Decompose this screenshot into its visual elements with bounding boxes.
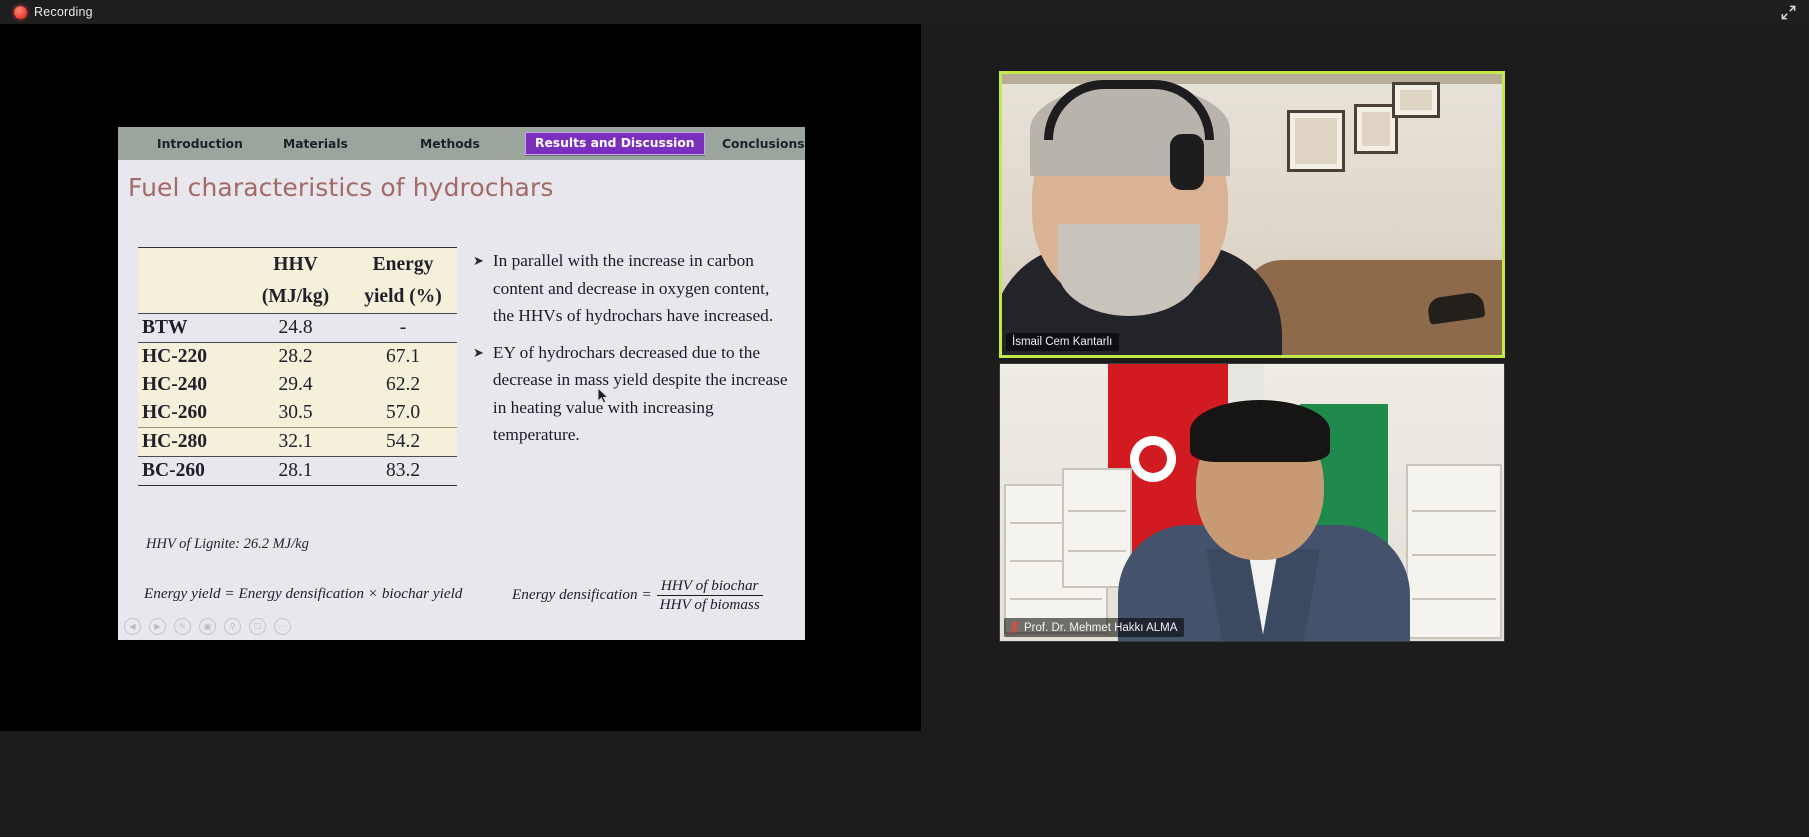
top-bar: Recording (0, 0, 1809, 24)
table-row: HC-220 28.2 67.1 (138, 343, 457, 372)
energy-densification-formula: Energy densification = HHV of biochar HH… (512, 577, 763, 614)
formula-denominator: HHV of biomass (657, 595, 763, 614)
arrow-bullet-icon: ➤ (473, 247, 484, 330)
fuel-characteristics-table: HHV Energy (MJ/kg) yield (%) BTW 24.8 (138, 247, 457, 486)
video-tile-participant[interactable]: Prof. Dr. Mehmet Hakkı ALMA (999, 363, 1505, 642)
presentation-slide[interactable]: Introduction Materials Methods Results a… (118, 127, 805, 640)
table-cell-ey: 62.2 (349, 371, 457, 399)
participant-name-tag: Prof. Dr. Mehmet Hakkı ALMA (1004, 618, 1184, 637)
table-cell-name: BC-260 (138, 457, 242, 486)
headset-earcup-icon (1170, 134, 1204, 190)
table-row: HC-240 29.4 62.2 (138, 371, 457, 399)
slide-tab-introduction[interactable]: Introduction (157, 137, 243, 151)
table-cell-hhv: 29.4 (242, 371, 349, 399)
table-header-row: HHV Energy (138, 248, 457, 281)
record-dot-icon (14, 6, 27, 19)
formula-fraction: HHV of biochar HHV of biomass (657, 577, 763, 614)
bullet-text: In parallel with the increase in carbon … (493, 247, 788, 330)
slide-tab-conclusions[interactable]: Conclusions (722, 137, 805, 151)
table-header-energy-yield: Energy (349, 248, 457, 281)
slide-toolbar[interactable]: ◀ ▶ ✎ ▣ ⚲ ☐ ⋯ (124, 618, 291, 635)
slide-tab-materials[interactable]: Materials (283, 137, 348, 151)
more-options-icon[interactable]: ⋯ (274, 618, 291, 635)
table-cell-name: HC-220 (138, 343, 242, 372)
recording-label: Recording (34, 5, 93, 19)
table-row: BTW 24.8 - (138, 314, 457, 343)
table-cell-name: HC-260 (138, 399, 242, 428)
table-header-blank (138, 248, 242, 281)
list-item: ➤ EY of hydrochars decreased due to the … (473, 339, 788, 449)
bullet-text: EY of hydrochars decreased due to the de… (493, 339, 788, 449)
table-header-ey-units: yield (%) (349, 281, 457, 314)
table-cell-ey: 83.2 (349, 457, 457, 486)
video-tile-active-speaker[interactable]: İsmail Cem Kantarlı (999, 71, 1505, 358)
slide-title: Fuel characteristics of hydrochars (128, 173, 553, 202)
table-cell-name: HC-280 (138, 428, 242, 457)
table-header-ey-line1: Energy (349, 251, 457, 278)
picture-frame (1392, 82, 1440, 118)
table-cell-name: HC-240 (138, 371, 242, 399)
table-cell-ey: 54.2 (349, 428, 457, 457)
energy-yield-formula: Energy yield = Energy densification × bi… (144, 585, 462, 603)
participant-hair (1190, 400, 1330, 462)
next-slide-icon[interactable]: ▶ (149, 618, 166, 635)
table-row: HC-260 30.5 57.0 (138, 399, 457, 428)
table-cell-hhv: 30.5 (242, 399, 349, 428)
zoom-icon[interactable]: ⚲ (224, 618, 241, 635)
table-cell-ey: - (349, 314, 457, 343)
expand-arrows-icon[interactable] (1780, 4, 1797, 21)
participant-name: İsmail Cem Kantarlı (1012, 336, 1112, 348)
table-header-hhv: HHV (242, 248, 349, 281)
bookshelf (1406, 464, 1502, 639)
mic-muted-icon (1010, 621, 1019, 634)
arrow-bullet-icon: ➤ (473, 339, 484, 449)
table-header-blank-2 (138, 281, 242, 314)
table-cell-hhv: 32.1 (242, 428, 349, 457)
table-header-row-2: (MJ/kg) yield (%) (138, 281, 457, 314)
table-header-hhv-units: (MJ/kg) (242, 281, 349, 314)
shared-screen-stage: Introduction Materials Methods Results a… (0, 24, 921, 731)
participant-name: Prof. Dr. Mehmet Hakkı ALMA (1024, 622, 1177, 634)
slide-bullet-list: ➤ In parallel with the increase in carbo… (473, 247, 788, 458)
pen-icon[interactable]: ✎ (174, 618, 191, 635)
present-icon[interactable]: ☐ (249, 618, 266, 635)
formula-lhs: Energy densification = (512, 586, 652, 604)
recording-indicator: Recording (14, 0, 93, 24)
table-row: HC-280 32.1 54.2 (138, 428, 457, 457)
screen-root: Recording Introduction Materials Methods… (0, 0, 1809, 837)
previous-slide-icon[interactable]: ◀ (124, 618, 141, 635)
slide-tab-methods[interactable]: Methods (420, 137, 480, 151)
slide-footnote: HHV of Lignite: 26.2 MJ/kg (146, 536, 309, 553)
slide-view-icon[interactable]: ▣ (199, 618, 216, 635)
table-row: BC-260 28.1 83.2 (138, 457, 457, 486)
video-panel: İsmail Cem Kantarlı (999, 71, 1505, 642)
list-item: ➤ In parallel with the increase in carbo… (473, 247, 788, 330)
table-cell-hhv: 28.2 (242, 343, 349, 372)
picture-frame (1287, 110, 1345, 172)
slide-tab-results-and-discussion[interactable]: Results and Discussion (525, 132, 705, 155)
formula-numerator: HHV of biochar (658, 577, 762, 595)
table-cell-name: BTW (138, 314, 242, 343)
table-cell-hhv: 28.1 (242, 457, 349, 486)
table-header-hhv-line1: HHV (242, 251, 349, 278)
participant-name-tag: İsmail Cem Kantarlı (1006, 333, 1119, 351)
table-cell-ey: 57.0 (349, 399, 457, 428)
table-cell-ey: 67.1 (349, 343, 457, 372)
participant-beard (1058, 224, 1200, 316)
table-cell-hhv: 24.8 (242, 314, 349, 343)
slide-nav-bar: Introduction Materials Methods Results a… (118, 127, 805, 160)
